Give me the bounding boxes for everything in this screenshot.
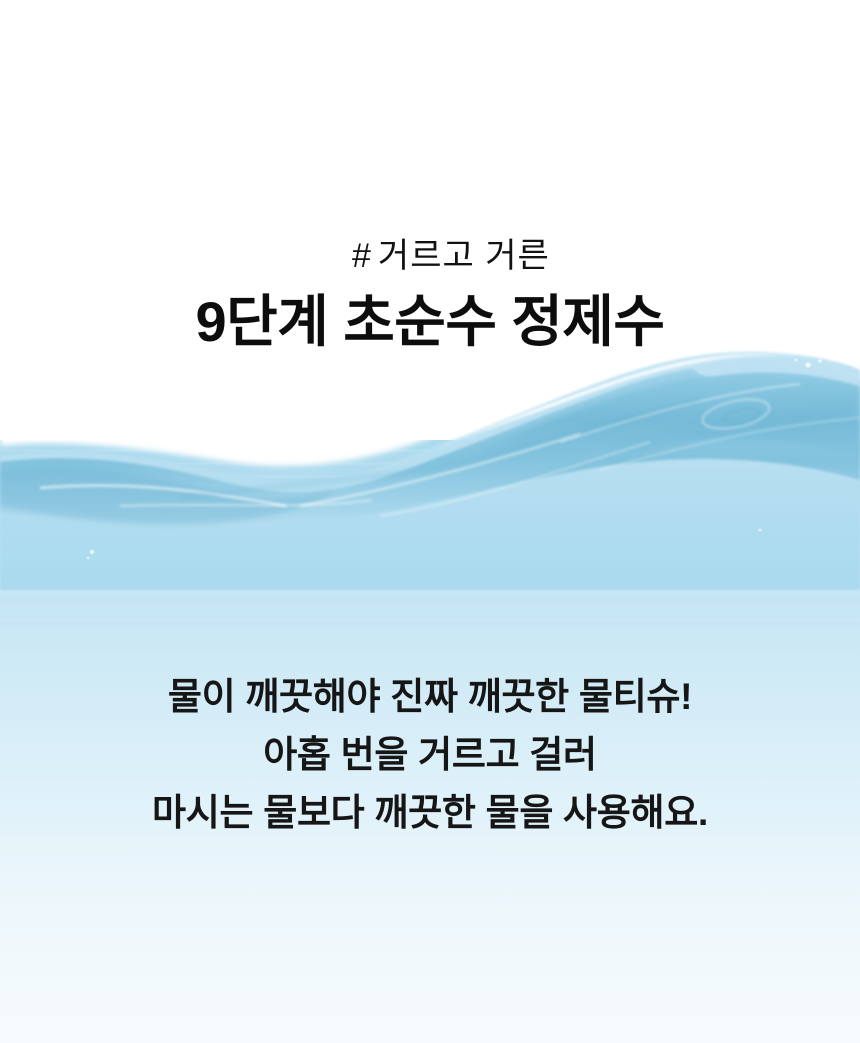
bubble-5 xyxy=(87,557,90,560)
water-surface-wave-illustration xyxy=(0,330,860,590)
body-copy-line-1: 물이 깨끗해야 진짜 깨끗한 물티슈! xyxy=(0,668,860,726)
eyebrow-label: 거르고 거른 xyxy=(378,237,550,275)
bubble-2 xyxy=(818,359,822,363)
bubble-6 xyxy=(758,528,761,531)
page-title: 9단계 초순수 정제수 xyxy=(0,286,860,358)
bubble-1 xyxy=(805,362,810,367)
body-copy-line-3: 마시는 물보다 깨끗한 물을 사용해요. xyxy=(0,784,860,842)
bubble-3 xyxy=(795,359,798,362)
bubble-4 xyxy=(90,550,94,554)
body-copy: 물이 깨끗해야 진짜 깨끗한 물티슈! 아홉 번을 거르고 걸러 마시는 물보다… xyxy=(0,668,860,842)
body-copy-line-2: 아홉 번을 거르고 걸러 xyxy=(0,726,860,784)
hashtag-icon: # xyxy=(352,237,372,275)
water-promo-banner: #거르고 거른 9단계 초순수 정제수 물이 깨끗해야 진짜 깨끗한 물티슈! … xyxy=(0,0,860,1043)
